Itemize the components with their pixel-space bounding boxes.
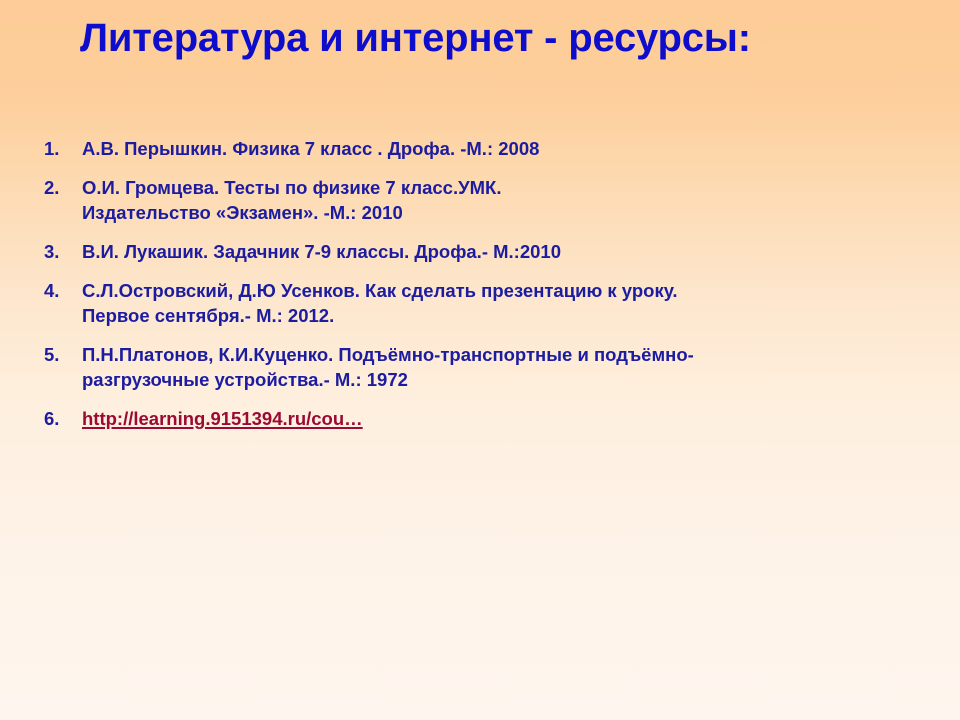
external-link[interactable]: http://learning.9151394.ru/cou… xyxy=(82,406,363,431)
list-item: 1. А.В. Перышкин. Физика 7 класс . Дрофа… xyxy=(44,136,944,161)
list-item-number: 4. xyxy=(44,278,82,303)
list-item-number: 6. xyxy=(44,406,82,431)
list-item-text: П.Н.Платонов, К.И.Куценко. Подъёмно-тран… xyxy=(82,342,944,392)
list-item-text: С.Л.Островский, Д.Ю Усенков. Как сделать… xyxy=(82,278,944,328)
presentation-slide: Литература и интернет - ресурсы: 1. А.В.… xyxy=(0,0,960,720)
list-item-number: 5. xyxy=(44,342,82,367)
list-item: 2. О.И. Громцева. Тесты по физике 7 клас… xyxy=(44,175,944,225)
list-item-number: 1. xyxy=(44,136,82,161)
list-item-number: 3. xyxy=(44,239,82,264)
references-list: 1. А.В. Перышкин. Физика 7 класс . Дрофа… xyxy=(44,136,944,445)
list-item: 3. В.И. Лукашик. Задачник 7-9 классы. Др… xyxy=(44,239,944,264)
list-item: 4. С.Л.Островский, Д.Ю Усенков. Как сдел… xyxy=(44,278,944,328)
list-item-text: А.В. Перышкин. Физика 7 класс . Дрофа. -… xyxy=(82,136,944,161)
list-item-text: В.И. Лукашик. Задачник 7-9 классы. Дрофа… xyxy=(82,239,944,264)
page-title: Литература и интернет - ресурсы: xyxy=(80,14,860,63)
list-item-link: 6. http://learning.9151394.ru/cou… xyxy=(44,406,944,431)
list-item-text: О.И. Громцева. Тесты по физике 7 класс.У… xyxy=(82,175,944,225)
list-item-number: 2. xyxy=(44,175,82,200)
list-item: 5. П.Н.Платонов, К.И.Куценко. Подъёмно-т… xyxy=(44,342,944,392)
